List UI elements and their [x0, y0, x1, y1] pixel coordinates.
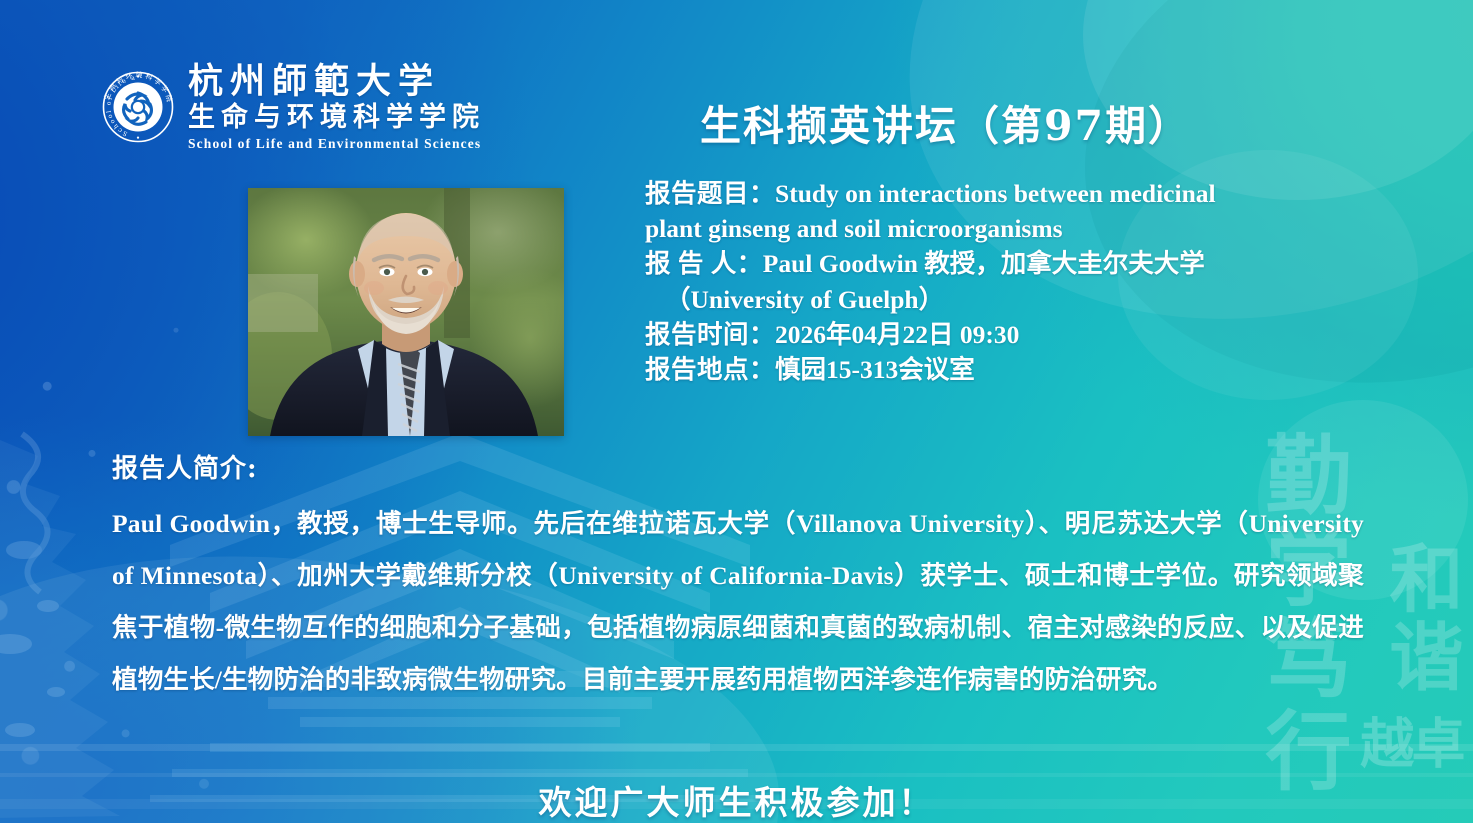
place-value: 慎园15-313会议室: [775, 355, 975, 384]
topic-value-line1: Study on interactions between medicinal: [775, 179, 1216, 208]
seminar-info: 报告题目：Study on interactions between medic…: [645, 176, 1405, 387]
college-name-en: School of Life and Environmental Science…: [188, 137, 485, 151]
call-to-action: 欢迎广大师生积极参加！: [0, 776, 1473, 823]
speaker-photo: [248, 188, 564, 436]
university-name-cn: 杭州師範大学: [188, 64, 485, 99]
speaker-affiliation: （University of Guelph）: [665, 285, 944, 314]
info-topic-line2: plant ginseng and soil microorganisms: [645, 211, 1405, 246]
time-value: 2026年04月22日 09:30: [775, 320, 1019, 349]
info-time-line: 报告时间：2026年04月22日 09:30: [645, 317, 1405, 352]
school-logo: School of Life and Environmental Science…: [102, 64, 485, 151]
school-logo-text: 杭州師範大学 生命与环境科学学院 School of Life and Envi…: [188, 64, 485, 151]
bio-text: Paul Goodwin，教授，博士生导师。先后在维拉诺瓦大学（Villanov…: [112, 498, 1364, 706]
info-speaker-line: 报 告 人：Paul Goodwin 教授，加拿大圭尔夫大学: [645, 246, 1405, 281]
college-name-cn: 生命与环境科学学院: [188, 104, 485, 131]
speaker-value: Paul Goodwin 教授，加拿大圭尔夫大学: [763, 249, 1205, 278]
topic-value-line2: plant ginseng and soil microorganisms: [645, 214, 1063, 243]
info-place-line: 报告地点：慎园15-313会议室: [645, 352, 1405, 387]
school-seal-icon: School of Life and Environmental Science…: [102, 71, 174, 143]
speaker-bio: 报告人简介: Paul Goodwin，教授，博士生导师。先后在维拉诺瓦大学（V…: [112, 448, 1364, 706]
calligraphy-watermark-harmony: 和谐: [1385, 540, 1455, 696]
info-topic-line1: 报告题目：Study on interactions between medic…: [645, 176, 1405, 211]
time-label: 报告时间：: [645, 320, 775, 349]
speaker-label: 报 告 人：: [645, 249, 763, 278]
bio-heading: 报告人简介:: [112, 448, 1364, 485]
info-affiliation-line: （University of Guelph）: [645, 282, 1405, 317]
place-label: 报告地点：: [645, 355, 775, 384]
topic-label: 报告题目：: [645, 179, 775, 208]
seminar-poster: 勤学笃行 和谐 卓越 School of Life and E: [0, 0, 1473, 823]
page-title: 生科撷英讲坛（第97期）: [700, 92, 1191, 152]
